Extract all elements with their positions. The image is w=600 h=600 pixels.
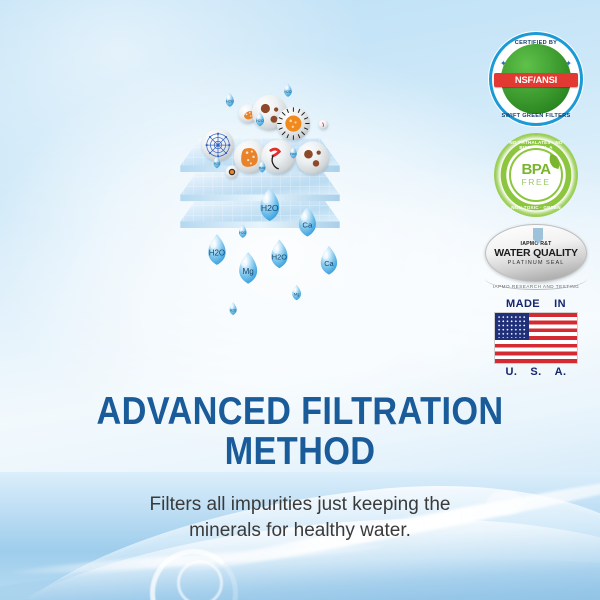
droplet-highlight	[323, 253, 329, 259]
contaminant-parasite-worm	[261, 140, 295, 174]
iapmo-ring	[485, 267, 587, 290]
flag-stars	[497, 315, 527, 338]
page-title: ADVANCED FILTRATION METHOD	[36, 392, 564, 472]
droplet-label: H2O	[284, 90, 291, 94]
droplet-label: H2O	[259, 166, 266, 170]
droplet-label: Mg	[294, 292, 300, 297]
flag-canton	[495, 313, 529, 340]
usa-letter: S.	[530, 366, 541, 378]
nsf-arc-bottom: SWIFT GREEN FILTERS	[492, 113, 580, 119]
iapmo-seal-icon: IAPMO R&T WATER QUALITY PLATINUM SEAL	[485, 224, 587, 282]
contaminant-micro-particle-tiny	[319, 120, 329, 130]
badge-bpa-free: NO PHTHALATES · NO BISPHENOL A BPA FREE …	[484, 135, 588, 215]
droplet-label: Ca	[324, 259, 334, 268]
usa-letter: U.	[506, 366, 518, 378]
droplet-highlight	[257, 116, 260, 119]
water-curl-ring-inner	[177, 560, 223, 600]
subtitle-line-1: Filters all impurities just keeping the	[150, 494, 451, 515]
badge-nsf-ansi: CERTIFIED BY ✦ ✦ NSF/ANSI SWIFT GREEN FI…	[484, 32, 588, 126]
droplet-label: Mg	[242, 267, 254, 276]
certification-badge-column: CERTIFIED BY ✦ ✦ NSF/ANSI SWIFT GREEN FI…	[484, 32, 588, 387]
contaminant-sediment-cluster-right	[296, 141, 329, 174]
contaminant-virus-particle-blue	[202, 129, 234, 161]
droplet-h2o: H2O	[271, 239, 287, 268]
droplet-highlight	[273, 247, 279, 253]
badge-made-in-usa: MADE IN U.S.A.	[484, 298, 588, 378]
nsf-center-label: NSF/ANSI	[494, 73, 578, 87]
droplet-highlight	[210, 242, 216, 249]
droplet-label: Ca	[302, 221, 313, 230]
bpa-free-label: FREE	[521, 177, 550, 187]
contaminant-virus-spiky-orange	[277, 107, 310, 140]
nsf-red-banner: NSF/ANSI	[494, 73, 578, 87]
droplet-label: H2O	[256, 119, 264, 123]
poster-canvas: H2OH2OH2OH2OH2OH2OH2OH2OH2OH2OH2OMgMgCaC…	[0, 0, 600, 600]
made-label: MADE	[506, 298, 540, 310]
nsf-arc-top: CERTIFIED BY	[492, 40, 580, 46]
droplet-h2o: H2O	[229, 302, 236, 315]
in-label: IN	[554, 298, 566, 310]
bpa-label: BPA	[521, 163, 550, 177]
droplet-highlight	[227, 96, 230, 99]
droplet-ca: Ca	[321, 246, 337, 275]
badge-iapmo-water-quality: IAPMO R&T WATER QUALITY PLATINUM SEAL IA…	[484, 224, 588, 289]
bpa-free-seal-icon: NO PHTHALATES · NO BISPHENOL A BPA FREE …	[496, 135, 576, 215]
droplet-label: H2O	[226, 100, 234, 104]
droplet-label: H2O	[239, 231, 246, 235]
droplet-highlight	[301, 214, 307, 221]
droplet-h2o: H2O	[208, 234, 225, 265]
droplet-highlight	[241, 260, 248, 267]
nsf-ansi-seal-icon: CERTIFIED BY ✦ ✦ NSF/ANSI SWIFT GREEN FI…	[489, 32, 583, 126]
star-icon-left: ✦	[500, 59, 507, 68]
usa-row: U.S.A.	[493, 366, 579, 378]
droplet-mg: Mg	[239, 252, 257, 284]
droplet-mg: Mg	[292, 285, 301, 300]
title-line-1: ADVANCED FILTRATION	[96, 390, 503, 433]
droplet-h2o: H2O	[284, 83, 292, 96]
droplet-label: H2O	[290, 152, 297, 156]
made-in-usa-seal-icon: MADE IN U.S.A.	[493, 298, 579, 378]
droplet-h2o: H2O	[226, 93, 234, 107]
us-flag-icon	[494, 312, 578, 364]
star-icon-right: ✦	[565, 59, 572, 68]
droplet-label: H2O	[209, 249, 225, 258]
droplet-label: H2O	[214, 162, 221, 166]
iapmo-title: WATER QUALITY	[494, 248, 578, 259]
droplet-highlight	[262, 196, 269, 203]
contaminant-sediment-particle-small	[226, 166, 239, 179]
subtitle-line-2: minerals for healthy water.	[0, 518, 600, 544]
title-line-2: METHOD	[36, 432, 564, 472]
droplet-label: H2O	[230, 308, 237, 312]
droplet-label: H2O	[261, 203, 279, 213]
filtration-diagram: H2OH2OH2OH2OH2OH2OH2OH2OH2OH2OH2OMgMgCaC…	[100, 60, 420, 340]
iapmo-subtitle: PLATINUM SEAL	[508, 260, 565, 266]
page-subtitle: Filters all impurities just keeping the …	[0, 492, 600, 544]
made-in-row: MADE IN	[493, 298, 579, 310]
bpa-arc-bottom: NON-TOXIC · GREEN	[496, 205, 576, 210]
usa-letter: A.	[555, 366, 567, 378]
droplet-label: H2O	[272, 253, 287, 262]
